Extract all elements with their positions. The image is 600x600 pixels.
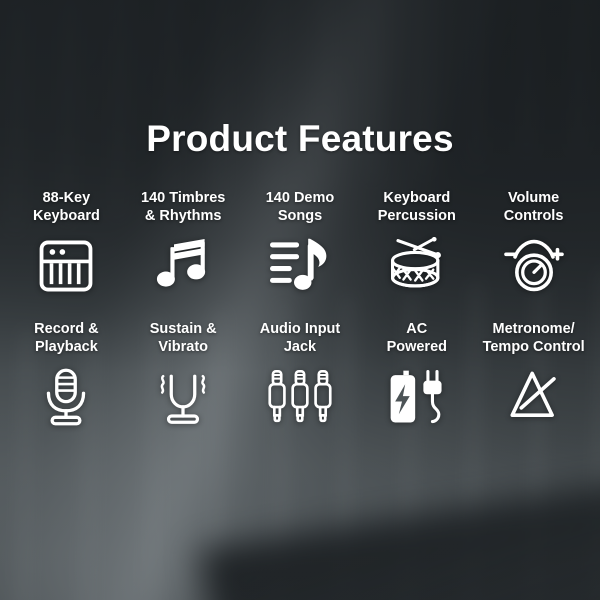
audio-jack-plugs-icon <box>267 366 333 428</box>
feature-label: Sustain & Vibrato <box>150 321 217 357</box>
feature-record-playback: Record & Playback <box>8 321 125 428</box>
feature-keyboard-percussion: Keyboard Percussion <box>358 190 475 297</box>
feature-label: Keyboard Percussion <box>378 190 456 226</box>
feature-label: Volume Controls <box>504 190 564 226</box>
feature-volume-controls: Volume Controls <box>475 190 592 297</box>
feature-88-key-keyboard: 88-Key Keyboard <box>8 190 125 297</box>
feature-label: Audio Input Jack <box>260 321 341 357</box>
beamed-music-notes-icon <box>156 235 210 297</box>
features-grid: 88-Key Keyboard 140 Timbres & Rhy <box>8 190 592 428</box>
feature-label: Record & Playback <box>34 321 98 357</box>
feature-label: AC Powered <box>387 321 447 357</box>
song-list-note-icon <box>270 235 330 297</box>
tuning-fork-vibration-icon <box>155 366 211 428</box>
feature-140-timbres-rhythms: 140 Timbres & Rhythms <box>125 190 242 297</box>
feature-ac-powered: AC Powered <box>358 321 475 428</box>
microphone-icon <box>42 366 90 428</box>
content-layer: Product Features 88-Key Keyboard <box>0 0 600 600</box>
feature-sustain-vibrato: Sustain & Vibrato <box>125 321 242 428</box>
feature-label: Metronome/ Tempo Control <box>483 321 585 357</box>
feature-140-demo-songs: 140 Demo Songs <box>242 190 359 297</box>
infographic-canvas: Product Features 88-Key Keyboard <box>0 0 600 600</box>
snare-drum-icon <box>387 235 447 297</box>
metronome-icon <box>505 366 563 428</box>
volume-knob-icon <box>503 235 565 297</box>
feature-metronome-tempo-control: Metronome/ Tempo Control <box>475 321 592 428</box>
battery-power-plug-icon <box>387 366 447 428</box>
piano-keyboard-icon <box>37 235 95 297</box>
page-title: Product Features <box>0 118 600 160</box>
feature-label: 140 Demo Songs <box>266 190 335 226</box>
feature-label: 88-Key Keyboard <box>33 190 100 226</box>
feature-label: 140 Timbres & Rhythms <box>141 190 225 226</box>
feature-audio-input-jack: Audio Input Jack <box>242 321 359 428</box>
